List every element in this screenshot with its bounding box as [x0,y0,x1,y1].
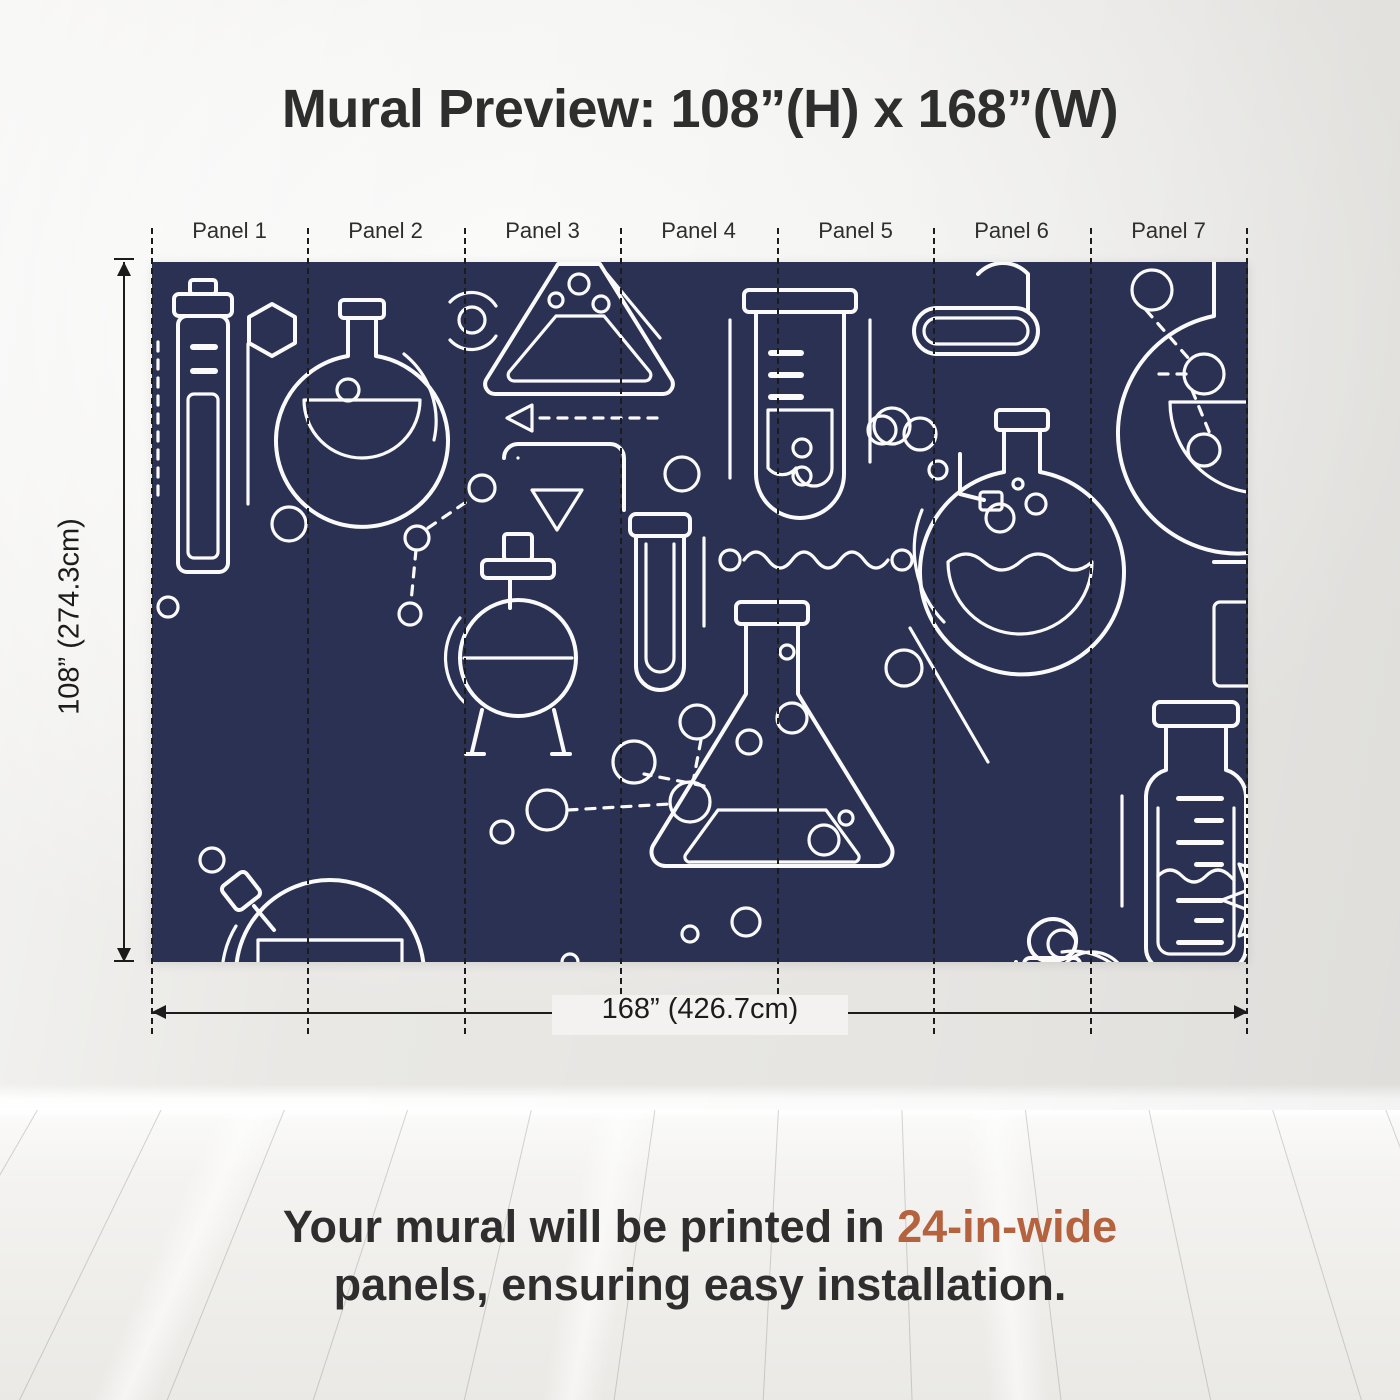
panel-divider-3 [620,228,622,1034]
height-arrow-down-icon [117,948,131,962]
height-arrow-up-icon [117,262,131,276]
caption-line2: panels, ensuring easy installation. [334,1259,1067,1310]
panel-label-7: Panel 7 [1090,218,1247,244]
mural-preview-screenshot: Mural Preview: 108”(H) x 168”(W) [0,0,1400,1400]
panel-label-3: Panel 3 [464,218,621,244]
height-dimension-line [123,262,125,962]
footer-caption: Your mural will be printed in 24-in-wide… [0,1198,1400,1313]
floor-top-edge [0,1110,1400,1120]
panel-divider-6 [1090,228,1092,1034]
panel-divider-5 [933,228,935,1034]
caption-accent-text: 24-in-wide [897,1201,1117,1252]
mural-pattern-artwork [152,262,1248,962]
panel-label-2: Panel 2 [307,218,464,244]
panel-label-1: Panel 1 [151,218,308,244]
height-tick-top [114,258,134,260]
panel-label-6: Panel 6 [933,218,1090,244]
panel-divider-4 [777,228,779,1034]
width-dimension-label: 168” (426.7cm) [0,993,1400,1026]
caption-line1-prefix: Your mural will be printed in [283,1201,897,1252]
panel-divider-1 [307,228,309,1034]
height-dimension-label: 108” (274.3cm) [54,357,87,877]
panel-divider-left-edge [151,228,153,1034]
wall-base-shadow [0,1084,1400,1110]
panel-divider-2 [464,228,466,1034]
panel-divider-right-edge [1246,228,1248,1034]
panel-label-5: Panel 5 [777,218,934,244]
page-title: Mural Preview: 108”(H) x 168”(W) [0,78,1400,140]
mural-preview-image[interactable] [152,262,1248,962]
panel-label-4: Panel 4 [620,218,777,244]
